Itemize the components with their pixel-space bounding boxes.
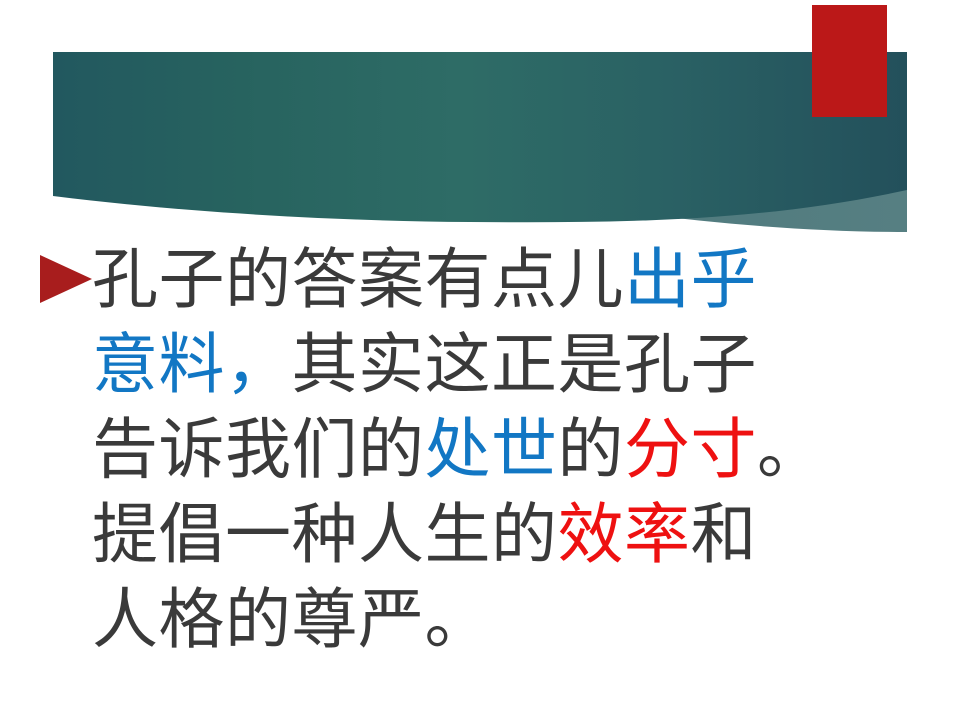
text-line-5: 人格的尊严。 [40, 578, 930, 663]
text-run-highlight-red: 效率 [558, 499, 691, 572]
banner-accent-curve [53, 52, 907, 232]
text-run: 提倡一种人生的 [92, 499, 558, 572]
text-run-punctuation: 。 [757, 414, 824, 487]
text-run: 告诉我们的 [92, 414, 425, 487]
text-run-highlight-blue: 意料， [92, 329, 292, 402]
text-run-highlight-red: 分寸 [624, 414, 757, 487]
text-line-2: 意料，其实这正是孔子 [40, 323, 930, 408]
text-line-3: 告诉我们的处世的分寸。 [40, 408, 930, 493]
text-line-4: 提倡一种人生的效率和 [40, 493, 930, 578]
slide-body-text: 孔子的答案有点儿出乎 意料，其实这正是孔子 告诉我们的处世的分寸。 提倡一种人生… [40, 238, 930, 663]
slide-header-decoration [0, 0, 960, 240]
triangle-bullet-icon [40, 255, 92, 303]
text-run: 人格的尊严。 [92, 584, 491, 657]
banner-main-shape [53, 52, 907, 222]
text-line-1: 孔子的答案有点儿出乎 [92, 238, 757, 323]
text-run: 孔子的答案有点儿 [92, 244, 624, 317]
text-run-highlight-blue: 处世 [425, 414, 558, 487]
bullet-first-line-row: 孔子的答案有点儿出乎 [40, 238, 930, 323]
text-run: 和 [691, 499, 758, 572]
text-run: 的 [558, 414, 625, 487]
red-accent-bar [812, 5, 887, 117]
text-run: 其实这正是孔子 [292, 329, 758, 402]
banner-accent-curve-group [53, 52, 907, 232]
text-run-highlight-blue: 出乎 [624, 244, 757, 317]
presentation-slide: 孔子的答案有点儿出乎 意料，其实这正是孔子 告诉我们的处世的分寸。 提倡一种人生… [0, 0, 960, 720]
